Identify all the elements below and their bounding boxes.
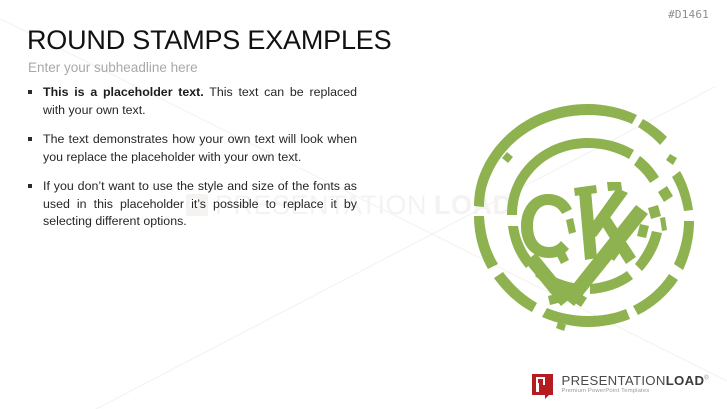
page-subheadline: Enter your subheadline here (28, 59, 198, 76)
list-item-lead: This is a placeholder text. (43, 85, 204, 99)
logo-bubble-tail (545, 394, 550, 399)
bullet-square-icon (28, 184, 32, 188)
list-item: This is a placeholder text. This text ca… (27, 84, 357, 119)
logo-wordmark: PRESENTATIONLOAD® (561, 374, 709, 387)
logo-tagline: Premium PowerPoint Templates (561, 389, 709, 395)
slide-canvas: #D1461 ROUND STAMPS EXAMPLES Enter your … (0, 0, 727, 409)
logo-name-light: PRESENTATION (561, 373, 665, 388)
bullet-square-icon (28, 137, 32, 141)
logo-text-block: PRESENTATIONLOAD® Premium PowerPoint Tem… (561, 374, 709, 395)
logo-registered-mark: ® (704, 376, 709, 382)
list-item: The text demonstrates how your own text … (27, 131, 357, 166)
list-item: If you don’t want to use the style and s… (27, 178, 357, 231)
bullet-square-icon (28, 90, 32, 94)
list-item-text: The text demonstrates how your own text … (43, 132, 357, 164)
slide-id-label: #D1461 (668, 8, 709, 21)
stamp-ink (474, 104, 694, 331)
list-item-text: If you don’t want to use the style and s… (43, 179, 357, 228)
body-text-block: This is a placeholder text. This text ca… (27, 84, 357, 231)
page-title: ROUND STAMPS EXAMPLES (27, 25, 391, 56)
presentationload-logo: PRESENTATIONLOAD® Premium PowerPoint Tem… (532, 374, 709, 395)
logo-name-bold: LOAD (666, 373, 705, 388)
round-ok-stamp (462, 96, 712, 346)
logo-speech-bubble-p-icon (532, 374, 553, 395)
